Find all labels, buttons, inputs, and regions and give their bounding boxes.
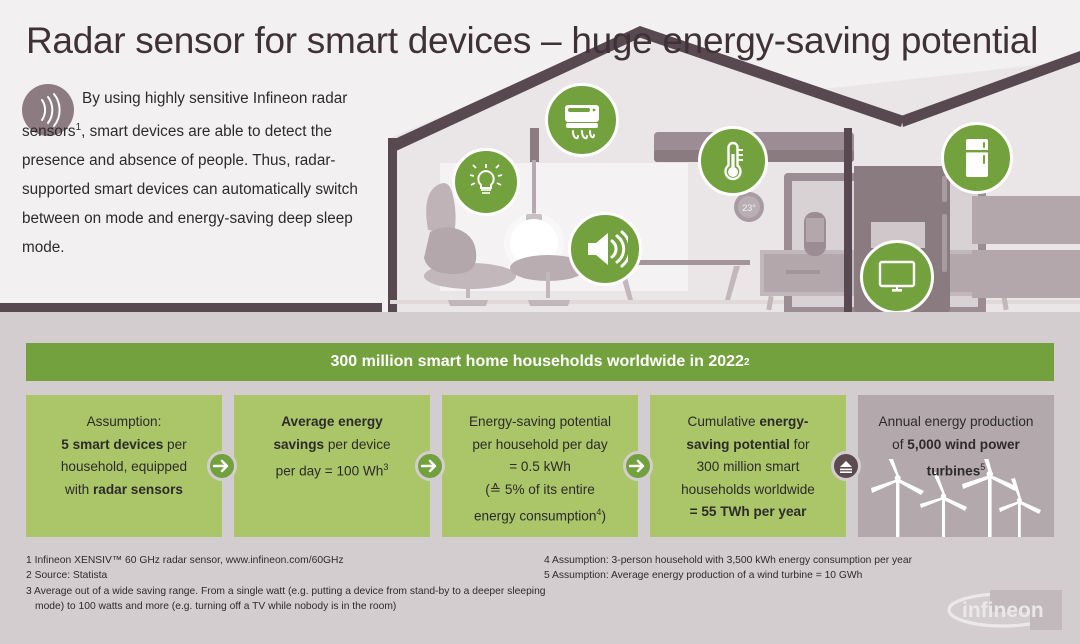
headline-banner: 300 million smart home households worldw… bbox=[26, 343, 1054, 381]
infographic-page: 23° bbox=[0, 0, 1080, 644]
flow-diagram: Assumption:5 smart devices perhousehold,… bbox=[26, 395, 1054, 537]
banner-footnote-marker: 2 bbox=[744, 357, 750, 368]
badge-lighting[interactable] bbox=[452, 148, 520, 216]
infineon-logo-text: infineon bbox=[962, 599, 1044, 622]
badge-thermostat[interactable] bbox=[698, 126, 768, 196]
badge-television[interactable] bbox=[860, 240, 934, 312]
connector-2-arrow-right-icon bbox=[415, 451, 445, 481]
badge-air-conditioning[interactable] bbox=[545, 83, 619, 157]
flow-step-potential-per-household[interactable]: Energy-saving potentialper household per… bbox=[442, 395, 638, 537]
lower-section: 300 million smart home households worldw… bbox=[0, 312, 1080, 644]
badge-refrigerator[interactable] bbox=[941, 122, 1013, 194]
footnote-4: 4 Assumption: 3-person household with 3,… bbox=[544, 553, 994, 568]
air-conditioner-icon bbox=[559, 97, 605, 143]
flow-step-assumption-text: Assumption:5 smart devices perhousehold,… bbox=[61, 411, 187, 501]
flow-step-potential-per-household-text: Energy-saving potentialper household per… bbox=[469, 411, 611, 528]
footnote-3: 3 Average out of a wide saving range. Fr… bbox=[26, 584, 546, 615]
badge-speaker[interactable] bbox=[568, 212, 642, 286]
flow-step-average-savings[interactable]: Average energysavings per deviceper day … bbox=[234, 395, 430, 537]
footnote-2: 2 Source: Statista bbox=[26, 568, 546, 583]
flow-step-cumulative-potential[interactable]: Cumulative energy-saving potential for30… bbox=[650, 395, 846, 537]
intro-text: By using highly sensitive Infineon radar… bbox=[22, 84, 362, 262]
intro-panel-underline bbox=[0, 303, 382, 312]
banner-text: 300 million smart home households worldw… bbox=[331, 353, 744, 371]
flow-step-cumulative-potential-text: Cumulative energy-saving potential for30… bbox=[681, 411, 815, 524]
page-title: Radar sensor for smart devices – huge en… bbox=[26, 20, 1038, 62]
footnote-5: 5 Assumption: Average energy production … bbox=[544, 568, 994, 583]
thermostat-reading: 23° bbox=[742, 203, 756, 213]
flow-step-average-savings-text: Average energysavings per deviceper day … bbox=[273, 411, 390, 483]
connector-1-arrow-right-icon bbox=[207, 451, 237, 481]
flow-step-wind-turbines[interactable]: Annual energy productionof 5,000 wind po… bbox=[858, 395, 1054, 537]
connector-4-corresponds-to-icon bbox=[831, 451, 861, 481]
connector-3-arrow-right-icon bbox=[623, 451, 653, 481]
thermostat-icon bbox=[714, 139, 752, 183]
infineon-logo: infineon bbox=[944, 590, 1062, 630]
refrigerator-icon bbox=[960, 136, 994, 180]
intro-text-part2: , smart devices are able to detect the p… bbox=[22, 123, 358, 256]
footnotes-right: 4 Assumption: 3-person household with 3,… bbox=[544, 553, 994, 584]
flow-step-wind-turbines-text: Annual energy productionof 5,000 wind po… bbox=[879, 411, 1034, 483]
footnotes-left: 1 Infineon XENSIV™ 60 GHz radar sensor, … bbox=[26, 553, 546, 615]
top-section: 23° bbox=[0, 0, 1080, 312]
footnote-1: 1 Infineon XENSIV™ 60 GHz radar sensor, … bbox=[26, 553, 546, 568]
television-icon bbox=[875, 258, 919, 296]
flow-step-assumption[interactable]: Assumption:5 smart devices perhousehold,… bbox=[26, 395, 222, 537]
light-bulb-icon bbox=[466, 162, 506, 202]
speaker-icon bbox=[582, 227, 628, 271]
